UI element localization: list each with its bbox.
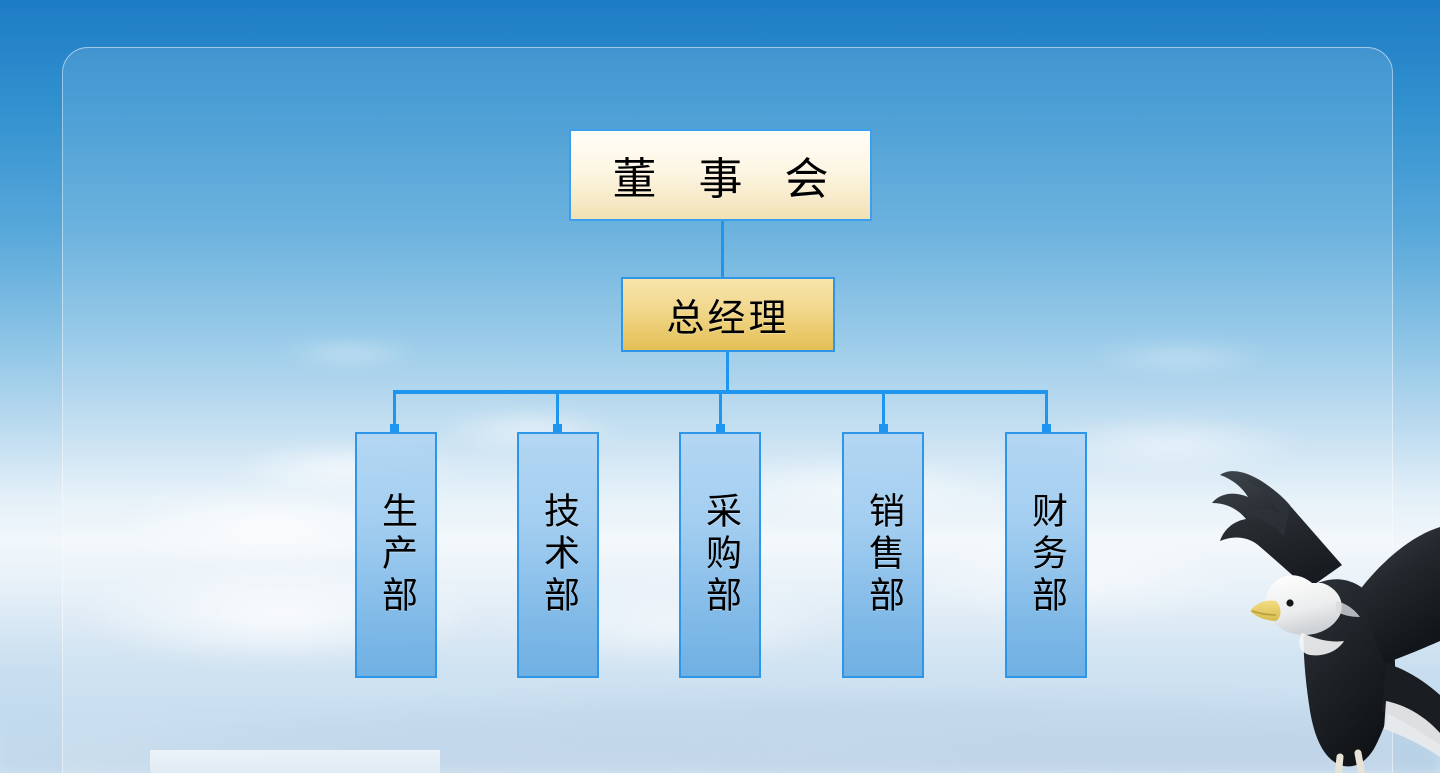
node-board-label: 董 事 会 [599, 143, 843, 207]
node-department-label: 采购部 [702, 492, 738, 618]
slide-canvas: 董 事 会 总经理 生产部 技术部 采购部 [0, 0, 1440, 773]
node-department-procurement[interactable]: 采购部 [679, 432, 761, 678]
node-department-sales[interactable]: 销售部 [842, 432, 924, 678]
node-board-of-directors[interactable]: 董 事 会 [569, 129, 872, 221]
node-department-label: 技术部 [540, 492, 576, 618]
node-general-manager[interactable]: 总经理 [621, 277, 835, 352]
node-department-finance[interactable]: 财务部 [1005, 432, 1087, 678]
node-department-label: 销售部 [865, 492, 901, 618]
node-department-label: 生产部 [378, 492, 414, 618]
connector-gm-drop [726, 352, 729, 394]
node-gm-label: 总经理 [666, 287, 789, 342]
node-department-label: 财务部 [1028, 492, 1064, 618]
node-department-production[interactable]: 生产部 [355, 432, 437, 678]
node-department-technology[interactable]: 技术部 [517, 432, 599, 678]
eagle-perch [150, 750, 440, 773]
connector-board-to-gm [721, 221, 724, 277]
org-chart: 董 事 会 总经理 生产部 技术部 采购部 [0, 0, 1440, 773]
